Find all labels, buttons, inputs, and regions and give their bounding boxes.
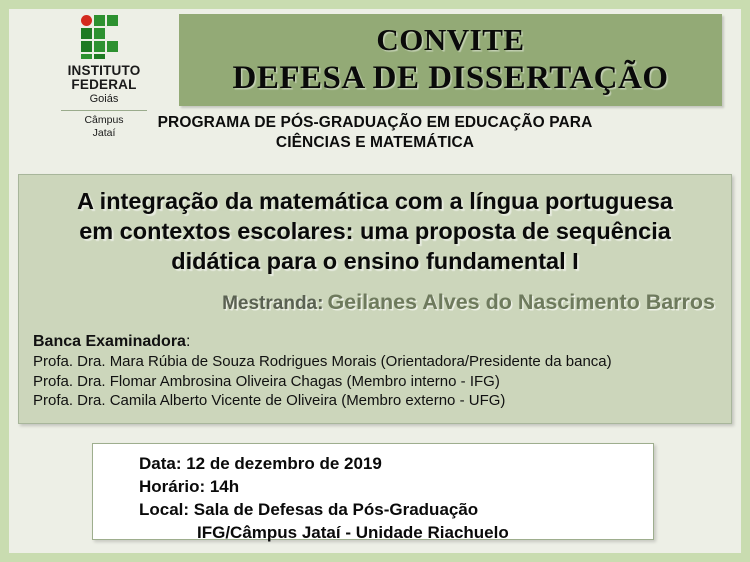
title-banner: CONVITE DEFESA DE DISSERTAÇÃO — [179, 14, 722, 106]
thesis-title-line2: em contextos escolares: uma proposta de … — [29, 216, 721, 246]
thesis-title-line3: didática para o ensino fundamental I — [29, 246, 721, 276]
poster-page: INSTITUTO FEDERAL Goiás Câmpus Jataí CON… — [9, 9, 741, 553]
program-line1: PROGRAMA DE PÓS-GRADUAÇÃO EM EDUCAÇÃO PA… — [9, 113, 741, 133]
committee-member: Profa. Dra. Camila Alberto Vicente de Ol… — [33, 391, 731, 411]
thesis-title: A integração da matemática com a língua … — [29, 186, 721, 276]
program-line2: CIÊNCIAS E MATEMÁTICA — [9, 133, 741, 153]
ifg-grid-logo-icon — [81, 15, 128, 59]
institution-state: Goiás — [44, 92, 164, 107]
program-subtitle: PROGRAMA DE PÓS-GRADUAÇÃO EM EDUCAÇÃO PA… — [9, 113, 741, 153]
poster-header: INSTITUTO FEDERAL Goiás Câmpus Jataí CON… — [9, 9, 741, 121]
event-details-box: Data: 12 de dezembro de 2019 Horário: 14… — [92, 443, 654, 540]
student-label: Mestranda: — [222, 293, 323, 314]
institution-name: INSTITUTO FEDERAL — [44, 64, 164, 91]
committee-heading-colon: : — [186, 333, 190, 350]
institution-name-line1: INSTITUTO — [44, 64, 164, 78]
student-name: Geilanes Alves do Nascimento Barros — [327, 290, 715, 314]
event-place: Local: Sala de Defesas da Pós-Graduação — [139, 498, 653, 521]
committee-block: Banca Examinadora: Profa. Dra. Mara Rúbi… — [33, 331, 731, 411]
committee-member: Profa. Dra. Flomar Ambrosina Oliveira Ch… — [33, 372, 731, 392]
committee-member: Profa. Dra. Mara Rúbia de Souza Rodrigue… — [33, 352, 731, 372]
banner-title-convite: CONVITE — [376, 22, 524, 58]
student-line: Mestranda:Geilanes Alves do Nascimento B… — [19, 290, 731, 315]
banner-title-defesa: DEFESA DE DISSERTAÇÃO — [232, 58, 668, 98]
institution-name-line2: FEDERAL — [44, 78, 164, 92]
event-time: Horário: 14h — [139, 475, 653, 498]
event-date: Data: 12 de dezembro de 2019 — [139, 452, 653, 475]
committee-heading: Banca Examinadora: — [33, 331, 731, 352]
logo-divider — [61, 110, 147, 111]
committee-heading-text: Banca Examinadora — [33, 333, 186, 350]
invitation-poster: INSTITUTO FEDERAL Goiás Câmpus Jataí CON… — [0, 0, 750, 562]
thesis-panel: A integração da matemática com a língua … — [18, 174, 732, 424]
event-place-continuation: IFG/Câmpus Jataí - Unidade Riachuelo — [139, 521, 653, 544]
thesis-title-line1: A integração da matemática com a língua … — [29, 186, 721, 216]
